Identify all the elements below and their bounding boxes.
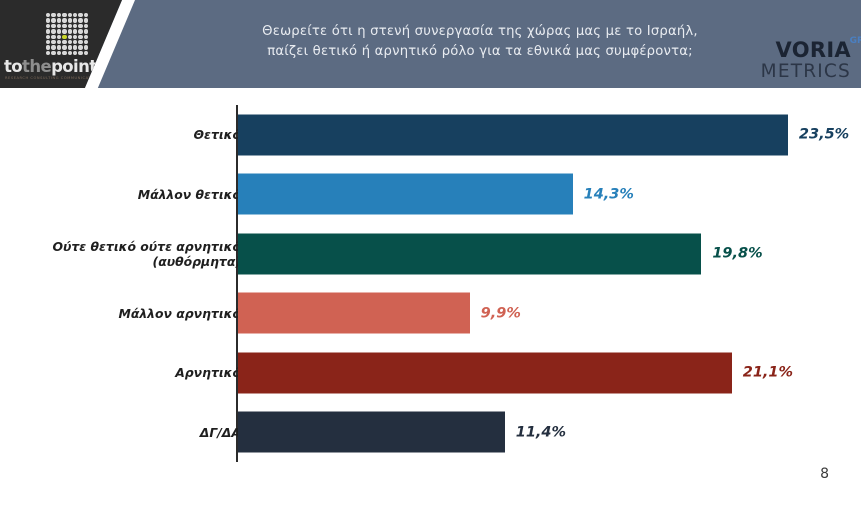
chart-bar-group: 11,4% xyxy=(238,412,566,453)
dot-grid-dot xyxy=(73,18,77,22)
chart-bar xyxy=(238,412,505,453)
page-number: 8 xyxy=(820,466,829,482)
brand-logo-voria-metrics: VORIA GR METRICS xyxy=(761,40,851,82)
chart-bar xyxy=(238,114,788,155)
chart-bar xyxy=(238,352,732,393)
chart-bar-value-label: 14,3% xyxy=(584,186,634,202)
dot-grid-dot xyxy=(51,45,55,49)
dot-grid-dot xyxy=(62,29,66,33)
dot-grid-dot xyxy=(68,35,72,39)
dot-grid-dot xyxy=(57,45,61,49)
bar-chart: Θετικό23,5%Μάλλον θετικό14,3%Ούτε θετικό… xyxy=(0,88,861,518)
chart-bar-group: 14,3% xyxy=(238,174,634,215)
dot-grid-dot xyxy=(62,24,66,28)
dot-grid-dot xyxy=(73,29,77,33)
dot-grid-dot xyxy=(62,51,66,55)
logo-wordmark-part3: point xyxy=(51,57,96,76)
chart-bar-value-label: 11,4% xyxy=(516,424,566,440)
chart-bar xyxy=(238,293,470,334)
dot-grid-dot xyxy=(46,35,50,39)
dot-grid-dot xyxy=(57,35,61,39)
logo-wordmark: tothepoint xyxy=(4,57,97,76)
dot-grid-dot xyxy=(62,45,66,49)
dot-grid-dot xyxy=(57,24,61,28)
dot-grid-dot xyxy=(78,51,82,55)
dot-grid-dot xyxy=(73,24,77,28)
dot-grid-dot xyxy=(68,18,72,22)
dot-grid-dot xyxy=(84,40,88,44)
dot-grid-dot xyxy=(51,24,55,28)
dot-grid-dot xyxy=(57,13,61,17)
dot-grid-icon xyxy=(46,13,88,55)
dot-grid-dot xyxy=(73,13,77,17)
chart-category-label: Μάλλον αρνητικό xyxy=(26,306,241,321)
dot-grid-dot xyxy=(46,29,50,33)
dot-grid-dot xyxy=(84,24,88,28)
chart-bar-row: Αρνητικό21,1% xyxy=(0,343,861,403)
chart-bar-row: Θετικό23,5% xyxy=(0,105,861,165)
slide-root: Θεωρείτε ότι η στενή συνεργασία της χώρα… xyxy=(0,0,861,518)
brand-name-top-text: VORIA xyxy=(776,38,851,62)
chart-bar-value-label: 21,1% xyxy=(743,365,793,381)
chart-rows: Θετικό23,5%Μάλλον θετικό14,3%Ούτε θετικό… xyxy=(0,105,861,462)
chart-bar-value-label: 19,8% xyxy=(712,246,762,262)
dot-grid-dot xyxy=(62,40,66,44)
dot-grid-dot xyxy=(57,51,61,55)
chart-category-label: Ούτε θετικό ούτε αρνητικό (αυθόρμητα) xyxy=(26,239,241,269)
chart-bar-group: 9,9% xyxy=(238,293,521,334)
chart-bar-row: Μάλλον θετικό14,3% xyxy=(0,165,861,225)
dot-grid-dot xyxy=(46,13,50,17)
dot-grid-dot xyxy=(51,18,55,22)
dot-grid-dot xyxy=(84,51,88,55)
dot-grid-dot xyxy=(46,18,50,22)
dot-grid-dot xyxy=(84,45,88,49)
chart-bar-row: Μάλλον αρνητικό9,9% xyxy=(0,284,861,344)
brand-name-top: VORIA GR xyxy=(776,40,851,61)
dot-grid-dot xyxy=(68,13,72,17)
dot-grid-dot xyxy=(68,51,72,55)
dot-grid-dot xyxy=(46,40,50,44)
dot-grid-dot xyxy=(46,45,50,49)
dot-grid-dot xyxy=(78,45,82,49)
dot-grid-dot xyxy=(62,13,66,17)
dot-grid-dot xyxy=(46,24,50,28)
dot-grid-dot xyxy=(78,35,82,39)
logo-tagline: RESEARCH CONSULTING COMMUNICATION xyxy=(5,76,99,80)
logo-wordmark-part2: the xyxy=(22,57,51,76)
chart-category-label: Αρνητικό xyxy=(26,365,241,380)
dot-grid-dot xyxy=(57,40,61,44)
chart-category-label: Θετικό xyxy=(26,127,241,142)
dot-grid-dot xyxy=(73,40,77,44)
chart-bar xyxy=(238,233,701,274)
dot-grid-dot xyxy=(51,40,55,44)
dot-grid-dot xyxy=(51,51,55,55)
chart-category-label: Μάλλον θετικό xyxy=(26,187,241,202)
dot-grid-dot xyxy=(84,13,88,17)
dot-grid-dot xyxy=(46,51,50,55)
dot-grid-dot xyxy=(78,13,82,17)
dot-grid-dot xyxy=(78,18,82,22)
brand-superscript: GR xyxy=(850,37,861,46)
chart-bar-row: ΔΓ/ΔΑ11,4% xyxy=(0,403,861,463)
dot-grid-dot xyxy=(51,13,55,17)
dot-grid-dot xyxy=(84,18,88,22)
chart-bar-group: 21,1% xyxy=(238,352,793,393)
chart-bar-row: Ούτε θετικό ούτε αρνητικό (αυθόρμητα)19,… xyxy=(0,224,861,284)
dot-grid-dot xyxy=(68,24,72,28)
chart-category-label: ΔΓ/ΔΑ xyxy=(26,425,241,440)
dot-grid-dot xyxy=(62,35,66,39)
brand-name-bottom: METRICS xyxy=(761,63,851,82)
dot-grid-dot xyxy=(62,18,66,22)
page-title: Θεωρείτε ότι η στενή συνεργασία της χώρα… xyxy=(195,22,765,62)
dot-grid-dot xyxy=(73,45,77,49)
dot-grid-dot xyxy=(57,29,61,33)
chart-bar-value-label: 9,9% xyxy=(481,305,521,321)
chart-bar-value-label: 23,5% xyxy=(799,127,849,143)
dot-grid-dot xyxy=(78,29,82,33)
dot-grid-dot xyxy=(51,35,55,39)
dot-grid-dot xyxy=(84,35,88,39)
dot-grid-dot xyxy=(84,29,88,33)
chart-bar xyxy=(238,174,573,215)
dot-grid-dot xyxy=(73,51,77,55)
dot-grid-dot xyxy=(78,40,82,44)
dot-grid-dot xyxy=(73,35,77,39)
dot-grid-dot xyxy=(68,40,72,44)
dot-grid-dot xyxy=(78,24,82,28)
logo-wordmark-part1: to xyxy=(4,57,22,76)
dot-grid-dot xyxy=(57,18,61,22)
dot-grid-dot xyxy=(68,29,72,33)
dot-grid-dot xyxy=(51,29,55,33)
chart-bar-group: 23,5% xyxy=(238,114,849,155)
chart-bar-group: 19,8% xyxy=(238,233,763,274)
dot-grid-dot xyxy=(68,45,72,49)
